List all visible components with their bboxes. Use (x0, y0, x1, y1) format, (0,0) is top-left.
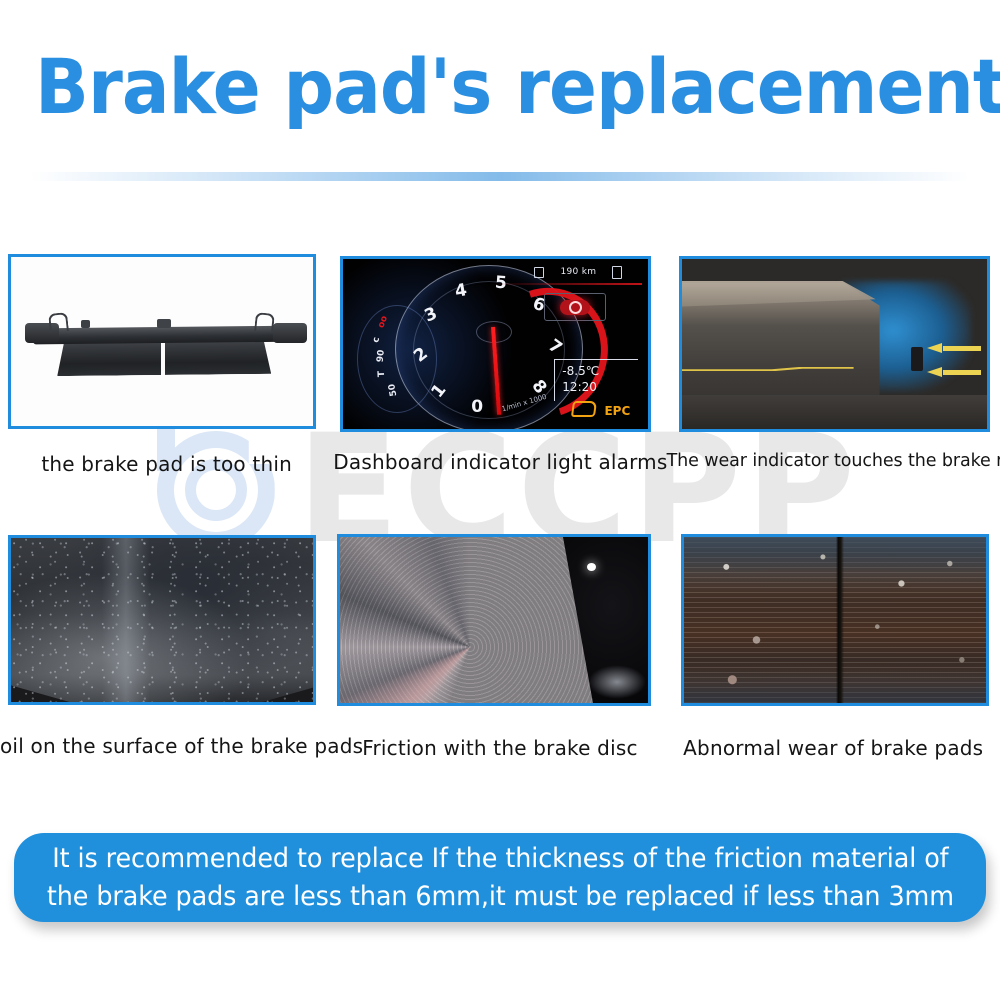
card-caption: Friction with the brake disc (333, 736, 666, 760)
brake-pad-photo (11, 257, 313, 426)
card-caption: Abnormal wear of brake pads (667, 736, 1000, 760)
dashboard-photo: 0 1 2 3 4 5 6 7 8 1/min x 1000 oo (343, 259, 648, 429)
brake-warning-indicator (544, 293, 606, 321)
epc-icon: EPC (604, 404, 630, 418)
yellow-arrow-icon-lower (927, 367, 981, 378)
tach-number-0: 0 (471, 397, 483, 417)
oily-pad-photo (11, 538, 313, 702)
card-image-frame (679, 256, 990, 432)
recommendation-banner: It is recommended to replace If the thic… (14, 833, 986, 922)
grid-row-1: the brake pad is too thin 0 1 2 3 4 (0, 252, 1000, 534)
wear-indicator-photo (682, 259, 987, 429)
card-dashboard-indicator: 0 1 2 3 4 5 6 7 8 1/min x 1000 oo (333, 252, 666, 534)
card-caption: Dashboard indicator light alarms (333, 450, 666, 474)
grid-row-2: oil on the surface of the brake pads Fr (0, 534, 1000, 819)
clock-display: 12:20 (562, 379, 638, 395)
page-title: Brake pad's replacement (35, 42, 965, 131)
crack-groove (836, 537, 844, 703)
engine-check-icon (571, 401, 597, 417)
fuel-mark-t: T (377, 371, 387, 377)
odometer-icon (534, 267, 544, 278)
fuel-temp-gauge (357, 305, 437, 413)
door-icon (612, 266, 622, 279)
abnormal-wear-photo (684, 537, 986, 703)
card-abnormal-wear: Abnormal wear of brake pads (667, 534, 1000, 819)
info-display: -8.5℃ 12:20 (554, 359, 638, 401)
card-image-frame (681, 534, 989, 706)
card-caption: The wear indicator touches the brake rot… (667, 451, 1000, 471)
fuel-mark-90: 90 (376, 349, 387, 363)
odometer-reading: 190 km (560, 267, 596, 277)
brake-disc-photo (340, 537, 648, 703)
outside-temperature: -8.5℃ (562, 363, 638, 379)
card-oil-on-surface: oil on the surface of the brake pads (0, 534, 333, 819)
card-wear-indicator: The wear indicator touches the brake rot… (667, 252, 1000, 534)
yellow-arrow-icon-upper (927, 343, 981, 354)
card-image-frame: 0 1 2 3 4 5 6 7 8 1/min x 1000 oo (340, 256, 651, 432)
card-image-frame (8, 254, 316, 429)
card-brake-pad-too-thin: the brake pad is too thin (0, 252, 333, 534)
title-divider (30, 172, 970, 181)
recommendation-text: It is recommended to replace If the thic… (46, 840, 953, 914)
card-image-frame (8, 535, 316, 705)
card-caption: oil on the surface of the brake pads (0, 734, 333, 758)
card-friction-with-disc: Friction with the brake disc (333, 534, 666, 819)
infographic-page: ECCPP Brake pad's replacement (0, 0, 1000, 1000)
symptom-grid: the brake pad is too thin 0 1 2 3 4 (0, 252, 1000, 819)
card-caption: the brake pad is too thin (0, 452, 333, 476)
card-image-frame (337, 534, 651, 706)
